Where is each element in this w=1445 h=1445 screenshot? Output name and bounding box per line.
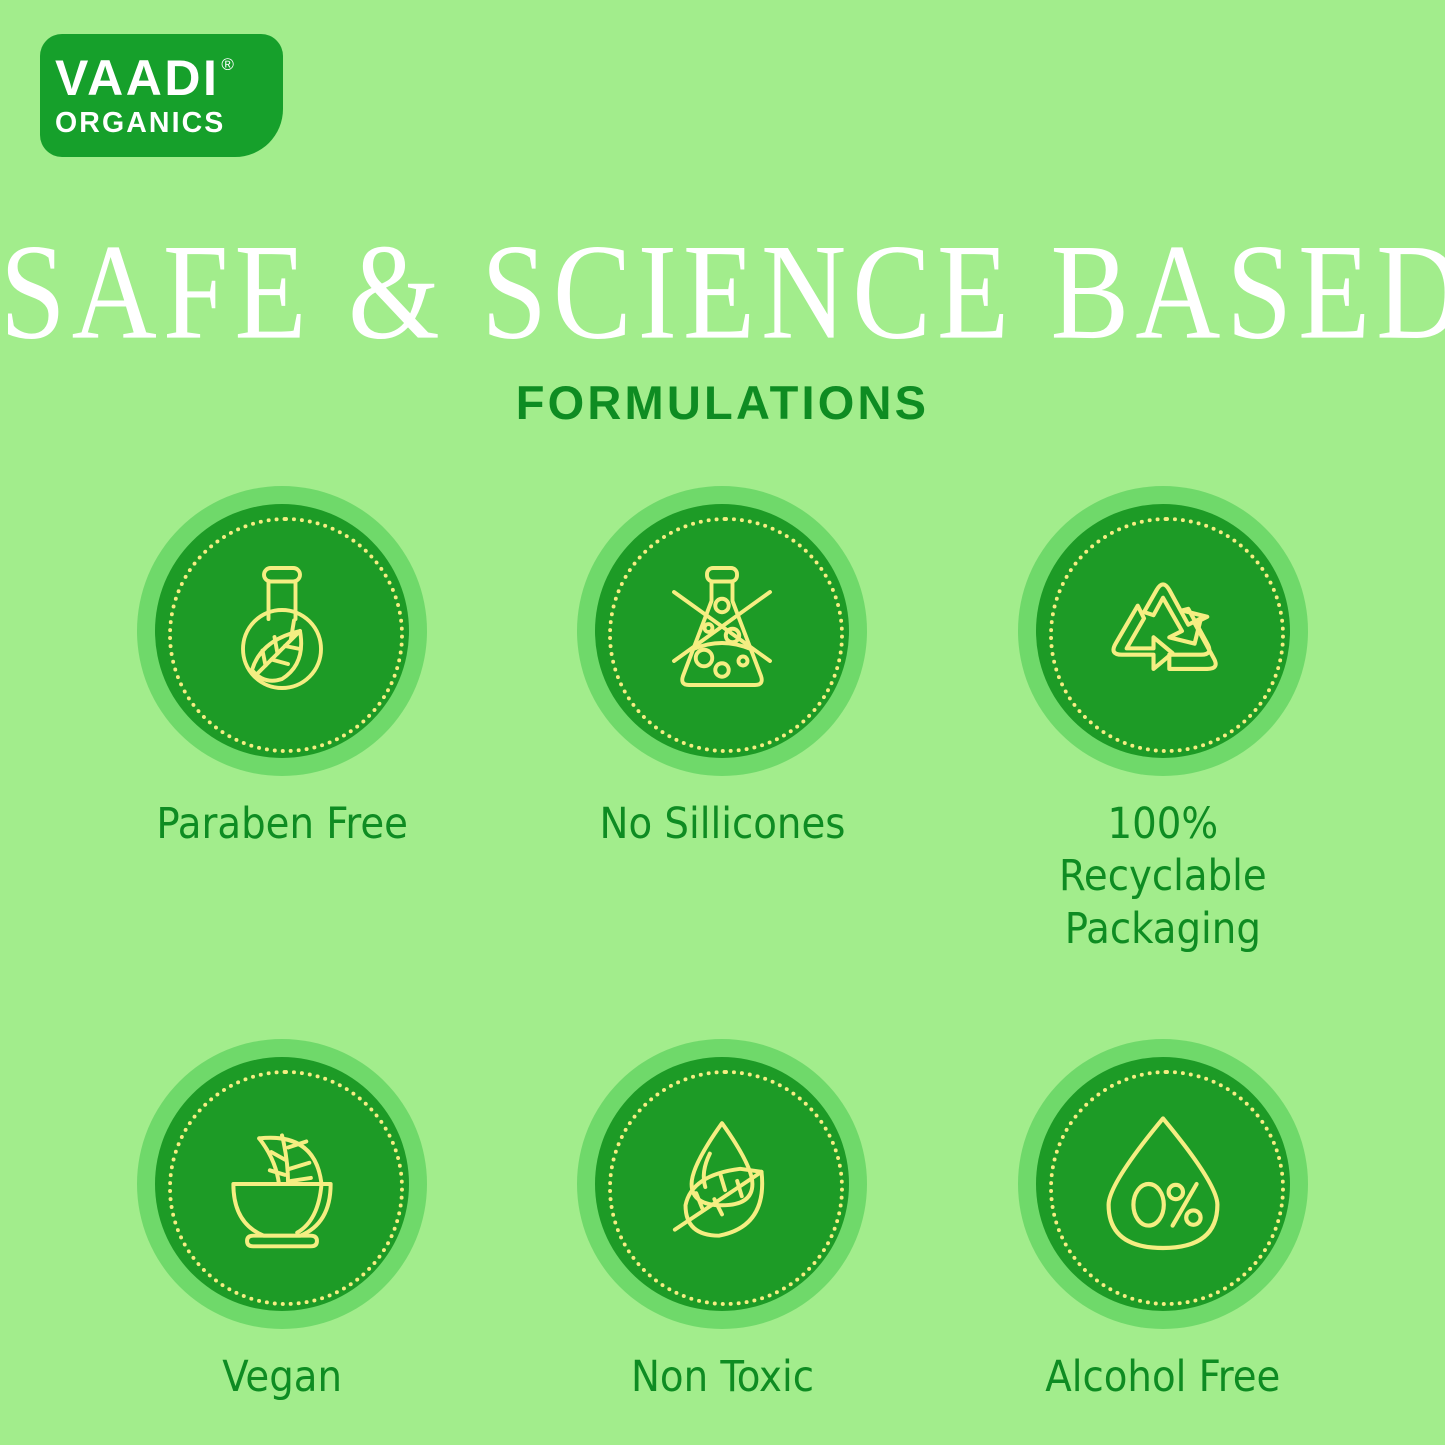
brand-logo: VAADI ® ORGANICS [40,34,283,157]
feature-item: No Sillicones [502,486,942,955]
feature-item: Alcohol Free [943,1039,1383,1403]
badge-non-toxic [577,1039,867,1329]
feature-label: No Sillicones [600,798,846,850]
feature-badge-grid: Paraben Free No Sillico [62,486,1383,1404]
badge-disc [1036,1057,1290,1311]
droplet-leaf-icon [646,1108,798,1260]
flask-leaf-icon [207,556,357,706]
badge-alcohol-free [1018,1039,1308,1329]
badge-no-sillicones [577,486,867,776]
bowl-leaf-icon [206,1108,358,1260]
badge-vegan [137,1039,427,1329]
feature-item: Non Toxic [502,1039,942,1403]
page-subtitle: FORMULATIONS [0,379,1445,426]
logo-wordmark: VAADI [55,54,219,102]
badge-recyclable-packaging [1018,486,1308,776]
feature-label: 100% Recyclable Packaging [998,798,1328,955]
badge-disc [595,504,849,758]
badge-disc [595,1057,849,1311]
feature-label: Vegan [222,1351,342,1403]
recycle-icon [1084,552,1242,710]
logo-wordmark-row: VAADI ® [55,54,283,102]
page-title: SAFE & SCIENCE BASED [0,224,1445,361]
badge-disc [155,504,409,758]
feature-label: Alcohol Free [1045,1351,1280,1403]
badge-paraben-free [137,486,427,776]
registered-trademark-icon: ® [221,56,234,73]
logo-tagline: ORGANICS [55,109,283,138]
feature-item: 100% Recyclable Packaging [943,486,1383,955]
badge-disc [1036,504,1290,758]
feature-label: Paraben Free [156,798,408,850]
feature-item: Vegan [62,1039,502,1403]
feature-label: Non Toxic [631,1351,814,1403]
flask-crossed-out-icon [647,556,797,706]
badge-disc [155,1057,409,1311]
droplet-zero-percent-icon [1083,1104,1243,1264]
feature-item: Paraben Free [62,486,502,955]
